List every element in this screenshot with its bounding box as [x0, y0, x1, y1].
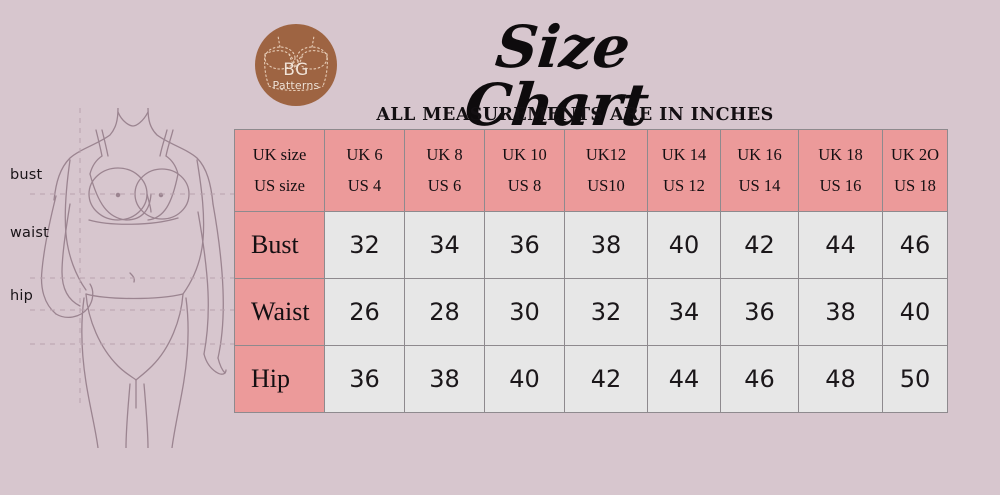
header-cell-col-0: UK 6 US 4 [325, 130, 405, 212]
header-us-value: US 4 [325, 171, 404, 202]
header-cell-col-6: UK 18 US 16 [799, 130, 883, 212]
cell-value: 36 [485, 212, 565, 279]
header-uk-value: UK 18 [799, 140, 882, 171]
header-cell-size-labels: UK size US size [235, 130, 325, 212]
header-us-value: US 14 [721, 171, 798, 202]
cell-value: 28 [405, 279, 485, 346]
cell-value: 30 [485, 279, 565, 346]
table-row: Hip 36 38 40 42 44 46 48 50 [235, 346, 948, 413]
cell-value: 46 [883, 212, 948, 279]
size-chart-table: UK size US size UK 6 US 4 UK 8 US 6 UK 1… [234, 129, 948, 413]
header-uk-value: UK 8 [405, 140, 484, 171]
size-chart-page: bust waist hip BG Patterns Size Chart AL… [0, 0, 1000, 495]
header-cell-col-7: UK 2O US 18 [883, 130, 948, 212]
header-uk-value: UK 16 [721, 140, 798, 171]
header-uk-size-label: UK size [235, 140, 324, 171]
row-label: Bust [235, 212, 325, 279]
header-cell-col-5: UK 16 US 14 [721, 130, 799, 212]
cell-value: 50 [883, 346, 948, 413]
cell-value: 44 [648, 346, 721, 413]
header-cell-col-1: UK 8 US 6 [405, 130, 485, 212]
cell-value: 48 [799, 346, 883, 413]
cell-value: 36 [325, 346, 405, 413]
female-torso-lingerie-figure [30, 108, 245, 448]
cell-value: 34 [648, 279, 721, 346]
cell-value: 32 [325, 212, 405, 279]
header-uk-value: UK 6 [325, 140, 404, 171]
header-us-value: US 16 [799, 171, 882, 202]
cell-value: 40 [648, 212, 721, 279]
cell-value: 38 [799, 279, 883, 346]
cell-value: 40 [883, 279, 948, 346]
header-us-value: US 6 [405, 171, 484, 202]
header-cell-col-2: UK 10 US 8 [485, 130, 565, 212]
cell-value: 34 [405, 212, 485, 279]
cell-value: 26 [325, 279, 405, 346]
header-us-value: US 18 [883, 171, 947, 202]
page-subtitle: ALL MEASUREMENTS ARE IN INCHES [330, 105, 820, 125]
header-uk-value: UK 10 [485, 140, 564, 171]
cell-value: 42 [565, 346, 648, 413]
cell-value: 42 [721, 212, 799, 279]
cell-value: 44 [799, 212, 883, 279]
table-row: Bust 32 34 36 38 40 42 44 46 [235, 212, 948, 279]
measurement-label-waist: waist [10, 225, 49, 241]
brand-logo: BG Patterns [255, 24, 337, 106]
row-label: Waist [235, 279, 325, 346]
cell-value: 46 [721, 346, 799, 413]
header-uk-value: UK 2O [883, 140, 947, 171]
cell-value: 32 [565, 279, 648, 346]
measurement-label-bust: bust [10, 167, 42, 183]
cell-value: 38 [565, 212, 648, 279]
header-us-value: US10 [565, 171, 647, 202]
cell-value: 40 [485, 346, 565, 413]
header-uk-value: UK12 [565, 140, 647, 171]
header-uk-value: UK 14 [648, 140, 720, 171]
header-cell-col-3: UK12 US10 [565, 130, 648, 212]
header-us-value: US 12 [648, 171, 720, 202]
measurement-label-hip: hip [10, 288, 33, 304]
header-cell-col-4: UK 14 US 12 [648, 130, 721, 212]
cell-value: 36 [721, 279, 799, 346]
table-row: Waist 26 28 30 32 34 36 38 40 [235, 279, 948, 346]
header-us-value: US 8 [485, 171, 564, 202]
table-header-row: UK size US size UK 6 US 4 UK 8 US 6 UK 1… [235, 130, 948, 212]
header-us-size-label: US size [235, 171, 324, 202]
row-label: Hip [235, 346, 325, 413]
logo-brand-name: BG [255, 62, 337, 80]
cell-value: 38 [405, 346, 485, 413]
logo-text-block: BG Patterns [255, 62, 337, 91]
logo-tagline: Patterns [255, 80, 337, 92]
